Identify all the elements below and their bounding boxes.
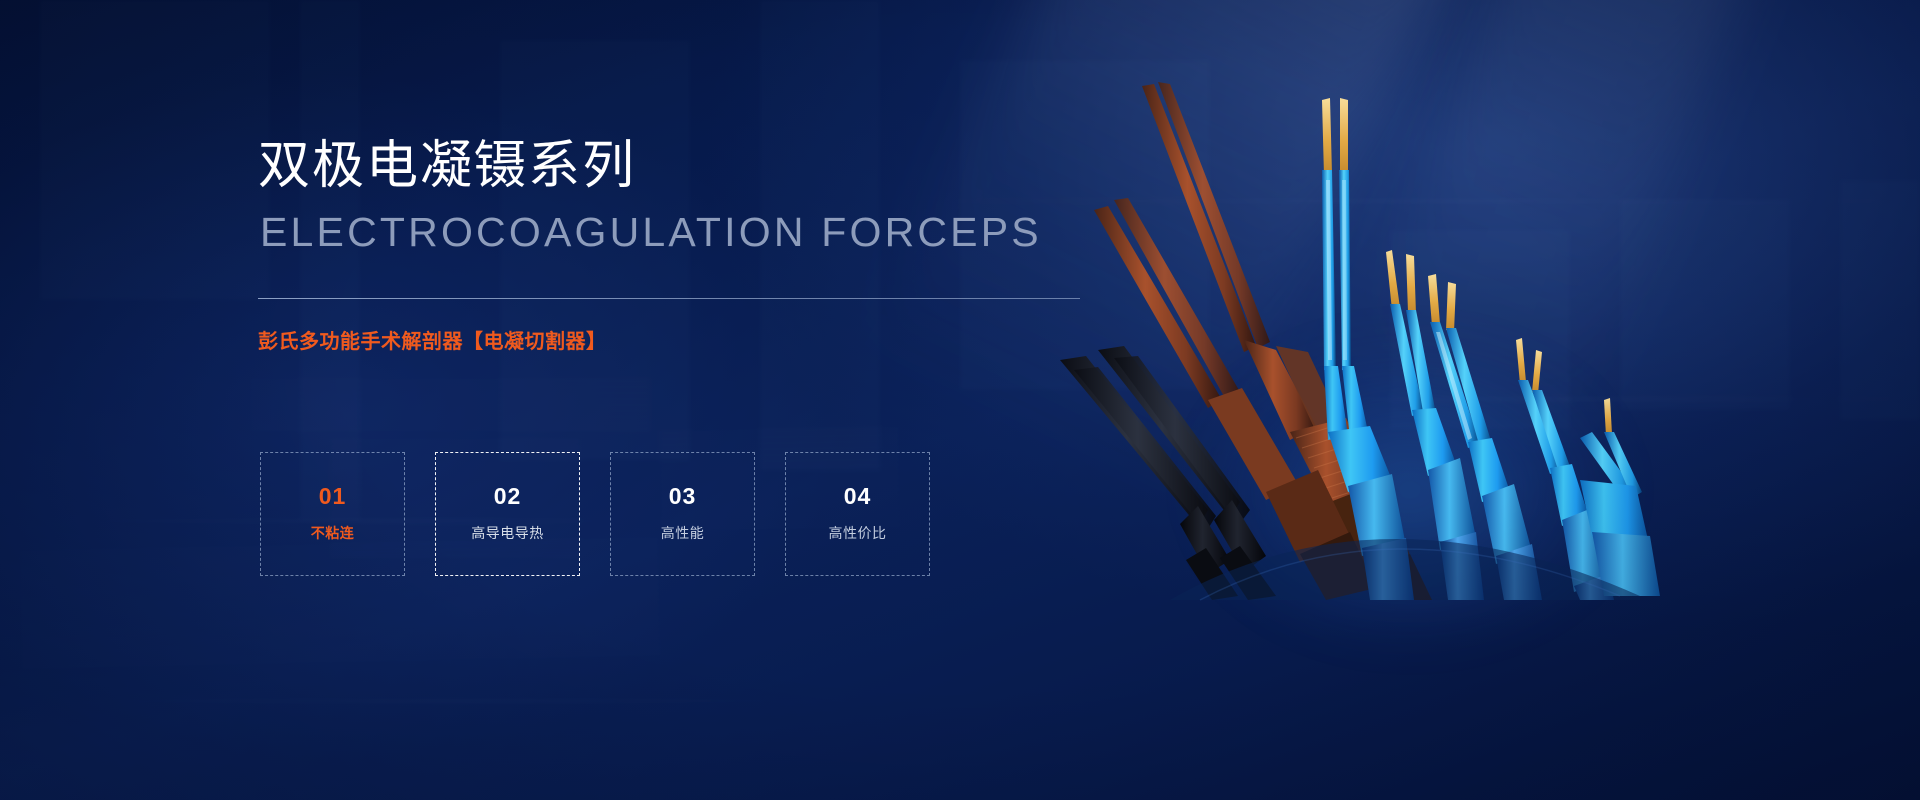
feature-number: 02 — [494, 485, 522, 508]
banner-text-content: 双极电凝镊系列 ELECTROCOAGULATION FORCEPS 彭氏多功能… — [258, 0, 1158, 800]
feature-label: 不粘连 — [311, 526, 355, 540]
feature-card-02[interactable]: 02 高导电导热 — [435, 452, 580, 576]
feature-label: 高性价比 — [829, 526, 887, 540]
forceps-fan-illustration — [1080, 40, 1700, 600]
page-title: 双极电凝镊系列 — [258, 140, 636, 192]
feature-card-01[interactable]: 01 不粘连 — [260, 452, 405, 576]
feature-label: 高导电导热 — [471, 526, 544, 540]
page-subtitle-english: ELECTROCOAGULATION FORCEPS — [260, 212, 1042, 253]
feature-list: 01 不粘连 02 高导电导热 03 高性能 04 高性价比 — [260, 452, 930, 576]
product-hero-banner: 双极电凝镊系列 ELECTROCOAGULATION FORCEPS 彭氏多功能… — [0, 0, 1920, 800]
feature-number: 03 — [669, 485, 697, 508]
title-divider — [258, 298, 1080, 299]
feature-card-04[interactable]: 04 高性价比 — [785, 452, 930, 576]
product-tagline: 彭氏多功能手术解剖器【电凝切割器】 — [258, 332, 607, 352]
product-image — [1080, 40, 1700, 600]
feature-card-03[interactable]: 03 高性能 — [610, 452, 755, 576]
feature-number: 04 — [844, 485, 872, 508]
feature-label: 高性能 — [661, 526, 705, 540]
feature-number: 01 — [319, 485, 347, 508]
